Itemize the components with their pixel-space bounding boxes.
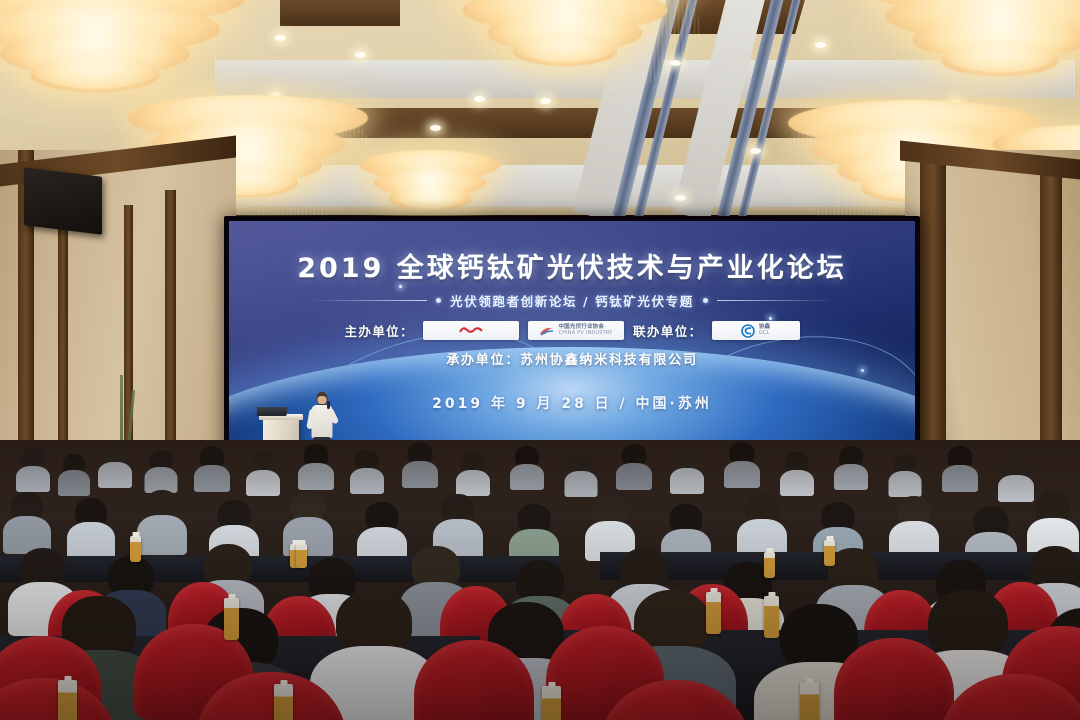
- audience-person: [360, 502, 404, 562]
- logo-sponsor-blue-text: 中国光伏行业协会CHINA PV INDUSTRY: [558, 325, 612, 336]
- chandelier: [430, 0, 700, 98]
- coorganizer-label: 联办单位：: [633, 321, 703, 340]
- bullet-dot: [703, 298, 708, 303]
- audience-person: [836, 446, 866, 486]
- microphone: [327, 401, 330, 409]
- organizer-label: 主办单位：: [344, 321, 414, 340]
- ceiling-speaker: [24, 167, 102, 235]
- sponsor-blue-mark: [539, 325, 554, 337]
- audience-person: [892, 496, 936, 556]
- downlight: [540, 98, 551, 104]
- downlight: [750, 148, 761, 154]
- audience-person: [944, 446, 976, 488]
- audience-person: [458, 452, 488, 492]
- audience-person: [726, 442, 758, 484]
- audience-person: [70, 498, 112, 556]
- audience-person: [436, 494, 480, 554]
- audience-person: [404, 442, 436, 484]
- audience-person: [140, 490, 184, 550]
- audience-person: [618, 444, 650, 486]
- water-bottle: [296, 544, 307, 568]
- sponsor-red-mark: [458, 325, 484, 336]
- audience-person: [18, 448, 48, 488]
- chandelier: [850, 0, 1080, 110]
- water-bottle: [800, 682, 819, 720]
- downlight: [430, 125, 441, 131]
- logo-gcl: 协鑫GCL: [712, 321, 800, 340]
- screen-title: 2019 全球钙钛矿光伏技术与产业化论坛: [229, 246, 915, 285]
- water-bottle: [706, 592, 721, 634]
- audience-person: [566, 454, 596, 494]
- conference-photo: 2019 全球钙钛矿光伏技术与产业化论坛 光伏领跑者创新论坛 / 钙钛矿光伏专题…: [0, 0, 1080, 720]
- downlight: [675, 195, 686, 201]
- audience-person: [588, 496, 632, 556]
- water-bottle: [764, 552, 775, 578]
- audience-person: [890, 454, 920, 494]
- audience-person: [146, 450, 176, 490]
- audience-person: [740, 494, 784, 554]
- downlight: [355, 52, 366, 58]
- audience-person: [6, 492, 48, 550]
- downlight: [275, 35, 286, 41]
- audience-person: [100, 444, 130, 484]
- audience-person: [512, 504, 556, 564]
- logo-sponsor-red: [423, 321, 519, 340]
- organizer-row: 主办单位： 中国光伏行业协会CHINA PV INDUSTRY 联办单位：: [229, 321, 915, 340]
- water-bottle: [58, 680, 77, 720]
- audience-person: [248, 452, 278, 492]
- audience-person: [60, 454, 88, 492]
- water-bottle: [542, 686, 561, 720]
- screen-subtitle-row: 光伏领跑者创新论坛 / 钙钛矿光伏专题: [229, 291, 915, 310]
- rule-left: [309, 300, 427, 301]
- water-bottle: [764, 596, 779, 638]
- logo-sponsor-blue: 中国光伏行业协会CHINA PV INDUSTRY: [528, 321, 624, 340]
- bullet-dot: [436, 298, 441, 303]
- audience-person: [1000, 456, 1032, 498]
- logo-gcl-text: 协鑫GCL: [759, 325, 770, 336]
- water-bottle: [274, 684, 293, 720]
- water-bottle: [824, 540, 835, 566]
- audience-person: [1030, 492, 1076, 554]
- audience-person: [512, 446, 542, 486]
- screen-subtitle: 光伏领跑者创新论坛 / 钙钛矿光伏专题: [450, 291, 694, 310]
- rule-right: [717, 300, 835, 301]
- audience-person: [300, 444, 332, 486]
- host-line: 承办单位：苏州协鑫纳米科技有限公司: [229, 349, 915, 368]
- downlight: [815, 42, 826, 48]
- audience-person: [782, 452, 812, 492]
- laptop: [257, 407, 288, 416]
- wall-trim: [165, 190, 176, 480]
- water-bottle: [130, 536, 141, 562]
- gcl-swirl-icon: [741, 324, 755, 338]
- audience-person: [672, 450, 702, 490]
- audience-person: [196, 446, 228, 488]
- audience-area: [0, 440, 1080, 720]
- water-bottle: [224, 598, 239, 640]
- audience-person: [352, 450, 382, 490]
- audience-table: [0, 556, 560, 582]
